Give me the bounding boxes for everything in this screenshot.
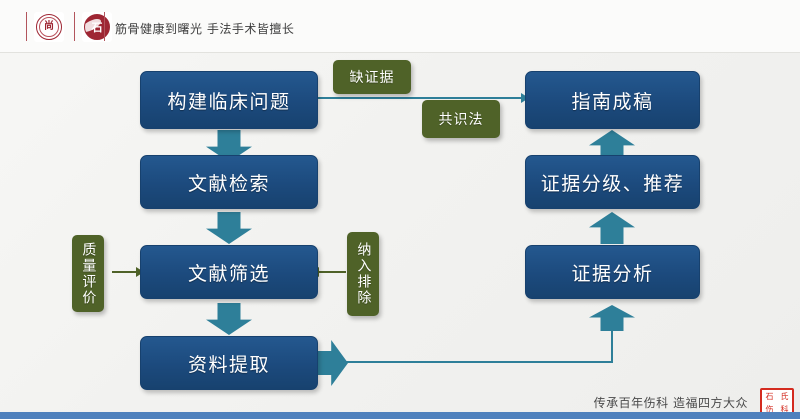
logo-right-glyph: 石: [92, 22, 103, 33]
footer-accent-bar: [0, 412, 800, 419]
connector-extraction-horizontal: [327, 361, 613, 363]
header-divider-3: [104, 12, 105, 41]
arrow-analysis-to-grading: [589, 212, 635, 244]
slide-header: 尚 石 筋骨健康到曙光 手法手术皆擅长: [0, 0, 800, 53]
node-build-question-label: 构建临床问题: [167, 87, 290, 114]
footer-slogan: 传承百年伤科 造福四方大众: [594, 394, 748, 411]
tag-include-exclude-label: 纳入排除: [356, 242, 371, 306]
node-guideline-draft[interactable]: 指南成稿: [525, 71, 700, 129]
node-data-extraction[interactable]: 资料提取: [140, 336, 318, 390]
connector-inclusion-to-screening: [318, 271, 346, 273]
logo-shuguang-hospital: 尚: [34, 12, 64, 42]
slide-canvas: 尚 石 筋骨健康到曙光 手法手术皆擅长 构建临床问题 文献检索: [0, 0, 800, 419]
node-build-question[interactable]: 构建临床问题: [140, 71, 318, 129]
tag-lack-evidence-label: 缺证据: [350, 67, 395, 87]
node-evidence-analysis-label: 证据分析: [571, 259, 653, 286]
connector-question-to-guideline: [310, 97, 525, 99]
tag-consensus-method-label: 共识法: [439, 109, 484, 129]
node-guideline-draft-label: 指南成稿: [571, 87, 653, 114]
clinic-emblem-icon: 石: [84, 14, 110, 40]
node-evidence-grading[interactable]: 证据分级、推荐: [525, 155, 700, 209]
hospital-emblem-icon: 尚: [36, 14, 62, 40]
arrow-screening-to-extraction: [206, 303, 252, 335]
node-literature-screening-label: 文献筛选: [188, 259, 270, 286]
node-evidence-grading-label: 证据分级、推荐: [541, 169, 685, 196]
header-bottom-rule: [0, 52, 800, 53]
node-literature-search[interactable]: 文献检索: [140, 155, 318, 209]
tag-quality-appraisal-label: 质量评价: [81, 242, 96, 306]
node-literature-screening[interactable]: 文献筛选: [140, 245, 318, 299]
logo-left-glyph: 尚: [44, 22, 54, 32]
seal-char-1: 石: [762, 390, 777, 403]
node-data-extraction-label: 资料提取: [188, 350, 270, 377]
tag-consensus-method[interactable]: 共识法: [422, 100, 500, 138]
header-divider-2: [74, 12, 75, 41]
tag-lack-evidence[interactable]: 缺证据: [333, 60, 411, 94]
header-slogan: 筋骨健康到曙光 手法手术皆擅长: [115, 20, 294, 37]
logo-shi-clinic: 石: [82, 12, 112, 42]
tag-quality-appraisal[interactable]: 质量评价: [72, 235, 104, 312]
node-literature-search-label: 文献检索: [188, 169, 270, 196]
arrow-search-to-screening: [206, 212, 252, 244]
arrow-into-evidence-analysis: [589, 305, 635, 331]
node-evidence-analysis[interactable]: 证据分析: [525, 245, 700, 299]
seal-char-2: 氏: [777, 390, 792, 403]
tag-include-exclude[interactable]: 纳入排除: [347, 232, 379, 316]
header-divider-1: [26, 12, 27, 41]
